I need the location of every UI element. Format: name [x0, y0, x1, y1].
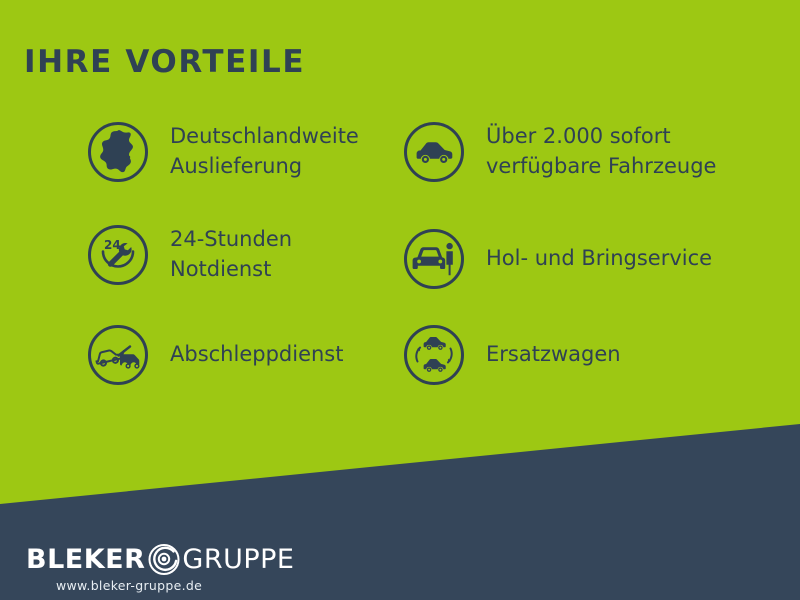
benefit-label: Über 2.000 sofort verfügbare Fahrzeuge [486, 122, 716, 182]
slide-canvas: IHRE VORTEILE Deutschlandweite Ausliefer… [0, 0, 800, 600]
benefit-item-24-stunden-notdienst: 24 24-Stunden Notdienst [88, 225, 292, 285]
benefit-label: Ersatzwagen [486, 340, 621, 370]
benefit-label: Hol- und Bringservice [486, 244, 712, 274]
footer-url[interactable]: www.bleker-gruppe.de [56, 578, 202, 593]
24-hour-wrench-icon: 24 [88, 225, 148, 285]
benefit-label: Deutschlandweite Auslieferung [170, 122, 359, 182]
benefit-item-abschleppdienst: Abschleppdienst [88, 325, 343, 385]
benefit-label: Abschleppdienst [170, 340, 343, 370]
germany-map-icon [88, 122, 148, 182]
page-title: IHRE VORTEILE [24, 47, 305, 78]
logo-primary-text: BLEKER [26, 546, 145, 573]
tow-truck-icon [88, 325, 148, 385]
benefit-item-verfuegbare-fahrzeuge: Über 2.000 sofort verfügbare Fahrzeuge [404, 122, 716, 182]
footer-logo[interactable]: BLEKER GRUPPE [26, 542, 294, 576]
spiral-circle-logo-icon [147, 542, 181, 576]
car-side-icon [404, 122, 464, 182]
car-front-person-icon [404, 229, 464, 289]
icon-text-24: 24 [104, 238, 121, 252]
logo-secondary-text: GRUPPE [182, 546, 294, 573]
benefit-item-hol-und-bringservice: Hol- und Bringservice [404, 229, 712, 289]
benefit-item-deutschlandweite-auslieferung: Deutschlandweite Auslieferung [88, 122, 359, 182]
two-cars-exchange-icon [404, 325, 464, 385]
benefit-item-ersatzwagen: Ersatzwagen [404, 325, 621, 385]
benefit-label: 24-Stunden Notdienst [170, 225, 292, 285]
